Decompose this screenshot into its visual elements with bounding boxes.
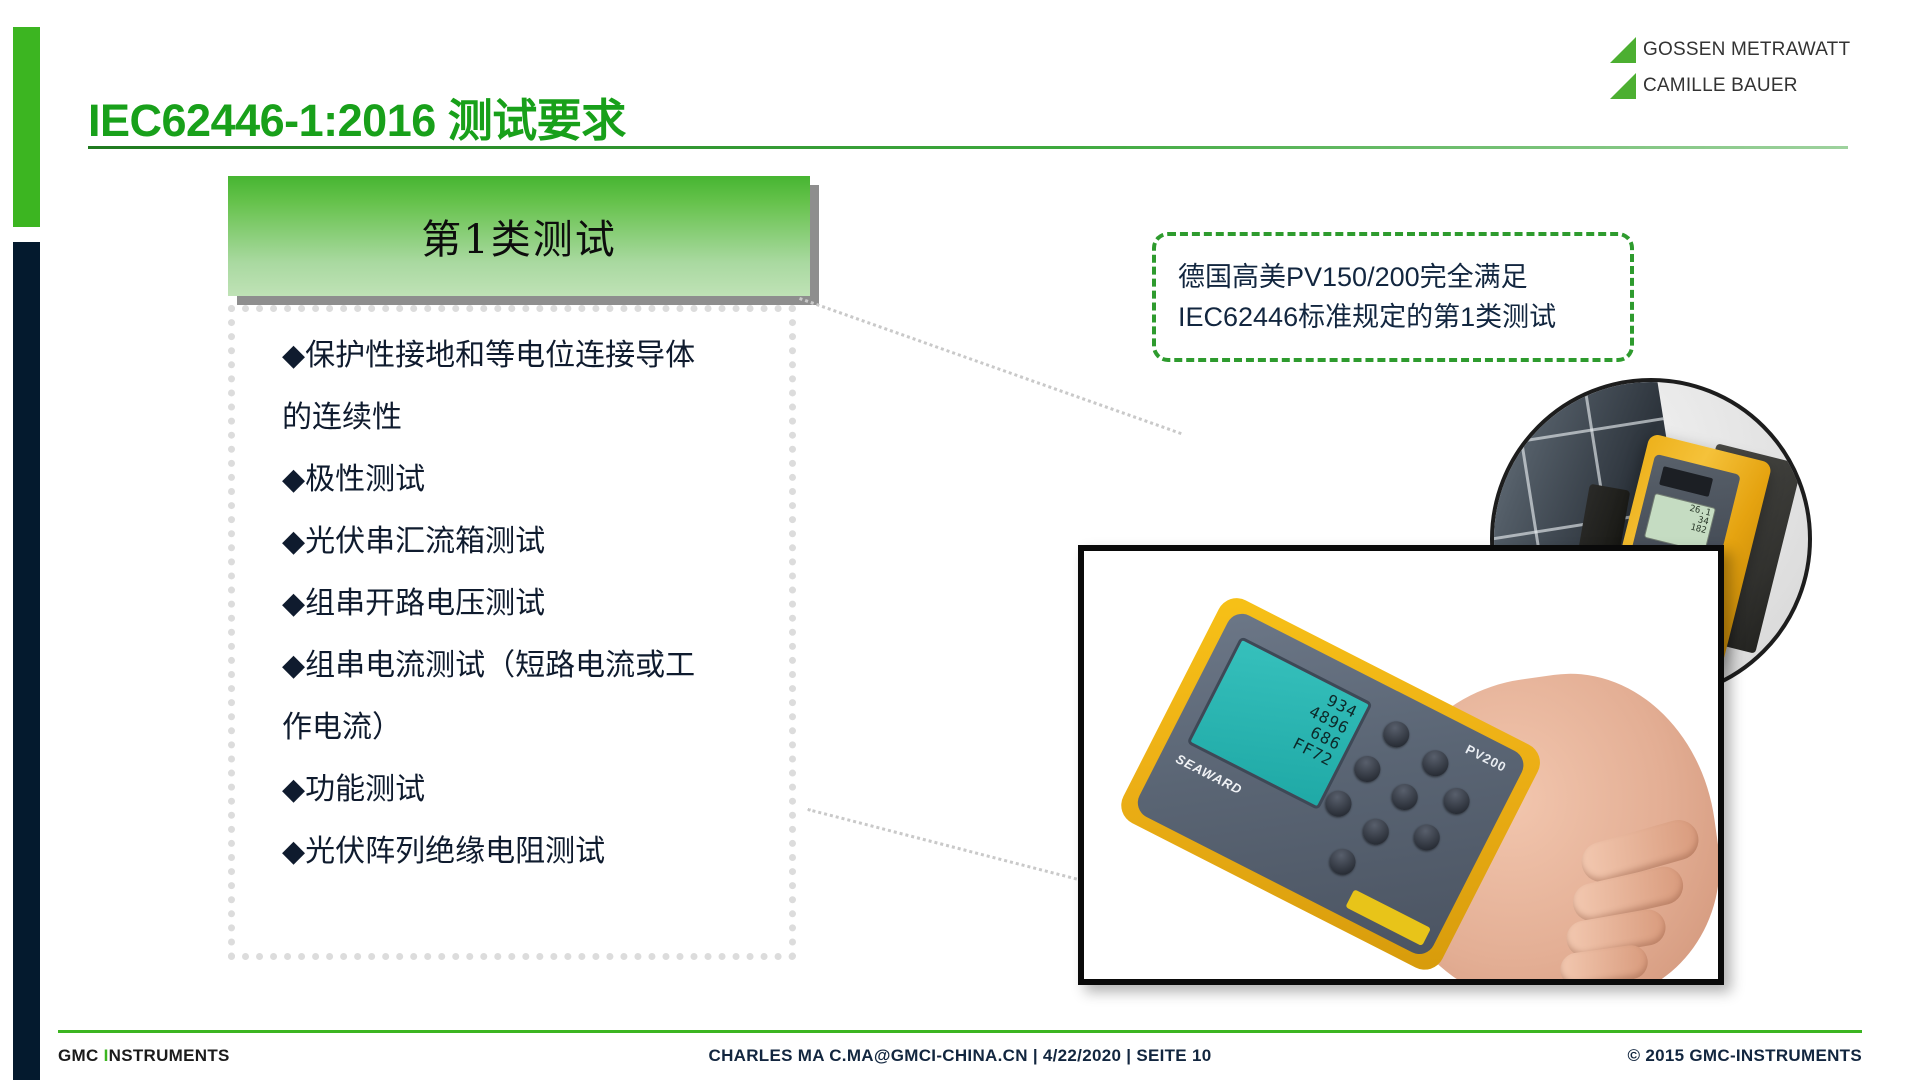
list-item: ◆保护性接地和等电位连接导体 的连续性 [282,325,782,449]
connector-line-top [799,297,1182,435]
triangle-icon [1610,37,1636,63]
page-title: IEC62446-1:2016 测试要求 [88,84,626,149]
logo-text-camille: CAMILLE BAUER [1643,75,1798,97]
callout-line-1: 德国高美PV150/200完全满足 [1178,257,1608,297]
category-box: 第1类测试 [228,176,810,296]
list-item: ◆功能测试 [282,759,782,821]
meter-lcd: 26.1 34 182 [1643,492,1716,552]
callout-line-2: IEC62446标准规定的第1类测试 [1178,297,1608,337]
left-accent-bar-navy [13,242,40,1080]
connector-line-bottom [807,808,1089,884]
device-key [1439,783,1474,818]
brand-logo: GOSSEN METRAWATT CAMILLE BAUER [1610,32,1860,104]
list-item: ◆光伏阵列绝缘电阻测试 [282,821,782,883]
device-key [1387,780,1422,815]
logo-text-gossen: GOSSEN METRAWATT [1643,39,1850,61]
category-box-fill: 第1类测试 [228,176,810,296]
triangle-icon [1610,73,1636,99]
list-item: ◆组串开路电压测试 [282,573,782,635]
logo-row-gossen: GOSSEN METRAWATT [1610,32,1860,68]
bullet-list: ◆保护性接地和等电位连接导体 的连续性 ◆极性测试 ◆光伏串汇流箱测试 ◆组串开… [282,325,782,883]
list-item: ◆光伏串汇流箱测试 [282,511,782,573]
framed-photo-pv200: PV200 934 4896 686 FF72 SEAWARD [1078,545,1724,985]
device-key [1325,844,1360,879]
list-item: ◆组串电流测试（短路电流或工 作电流） [282,635,782,759]
device-key [1409,820,1444,855]
callout-box: 德国高美PV150/200完全满足 IEC62446标准规定的第1类测试 [1152,232,1634,362]
category-box-label: 第1类测试 [421,207,616,265]
logo-row-camille: CAMILLE BAUER [1610,68,1860,104]
device-key [1350,752,1385,787]
title-underline [88,146,1848,149]
sensor-window [1659,466,1713,497]
device-key [1418,746,1453,781]
footer-divider [58,1030,1862,1033]
footer-copyright: © 2015 GMC-INSTRUMENTS [1628,1046,1863,1066]
left-accent-bar-green [13,27,40,227]
slide-canvas: IEC62446-1:2016 测试要求 GOSSEN METRAWATT CA… [0,0,1920,1080]
device-key [1358,814,1393,849]
device-model-label: PV200 [1463,742,1509,775]
device-key [1379,717,1414,752]
list-item: ◆极性测试 [282,449,782,511]
